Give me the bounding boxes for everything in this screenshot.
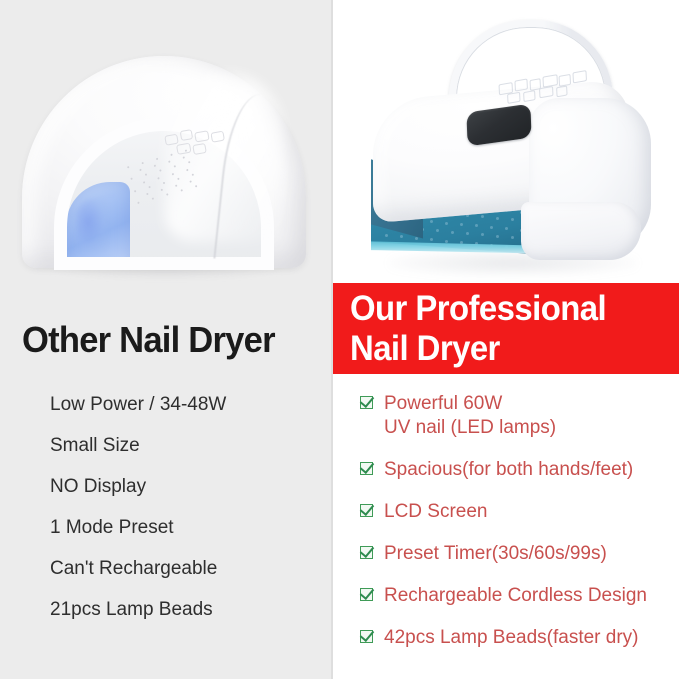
right-feature-item: Spacious(for both hands/feet) [358, 458, 676, 482]
check-icon [360, 546, 373, 559]
left-feature-list: Low Power / 34-48WSmall SizeNO Display1 … [50, 392, 325, 638]
banner-line-2: Nail Dryer [350, 329, 659, 369]
right-feature-label: Preset Timer(30s/60s/99s) [384, 543, 607, 564]
right-feature-item: Preset Timer(30s/60s/99s) [358, 542, 676, 566]
left-feature-item: 21pcs Lamp Beads [50, 597, 325, 638]
right-feature-label: Powerful 60W [384, 393, 502, 414]
right-feature-list: Powerful 60WUV nail (LED lamps)Spacious(… [358, 392, 676, 668]
our-professional-nail-dryer-product-image [371, 14, 667, 294]
check-icon [360, 504, 373, 517]
left-feature-item: Small Size [50, 433, 325, 474]
right-feature-label: Spacious(for both hands/feet) [384, 459, 633, 480]
right-feature-item: 42pcs Lamp Beads(faster dry) [358, 626, 676, 650]
comparison-infographic: Other Nail Dryer Low Power / 34-48WSmall… [0, 0, 679, 679]
check-icon [360, 462, 373, 475]
check-icon [360, 588, 373, 601]
left-feature-item: 1 Mode Preset [50, 515, 325, 556]
right-feature-label: LCD Screen [384, 501, 488, 522]
right-feature-item: Powerful 60WUV nail (LED lamps) [358, 392, 676, 440]
banner-line-1: Our Professional [350, 289, 659, 329]
right-feature-label: Rechargeable Cordless Design [384, 585, 647, 606]
check-icon [360, 396, 373, 409]
left-feature-item: NO Display [50, 474, 325, 515]
left-feature-item: Low Power / 34-48W [50, 392, 325, 433]
left-panel-heading: Other Nail Dryer [22, 318, 310, 362]
box-lamp-front-lip [521, 202, 641, 260]
check-icon [360, 630, 373, 643]
right-feature-item: Rechargeable Cordless Design [358, 584, 676, 608]
other-nail-dryer-product-image [14, 52, 314, 287]
right-feature-sublabel: UV nail (LED lamps) [384, 416, 676, 440]
right-feature-label: 42pcs Lamp Beads(faster dry) [384, 627, 639, 648]
left-feature-item: Can't Rechargeable [50, 556, 325, 597]
right-feature-item: LCD Screen [358, 500, 676, 524]
right-panel-banner: Our Professional Nail Dryer [333, 283, 679, 374]
